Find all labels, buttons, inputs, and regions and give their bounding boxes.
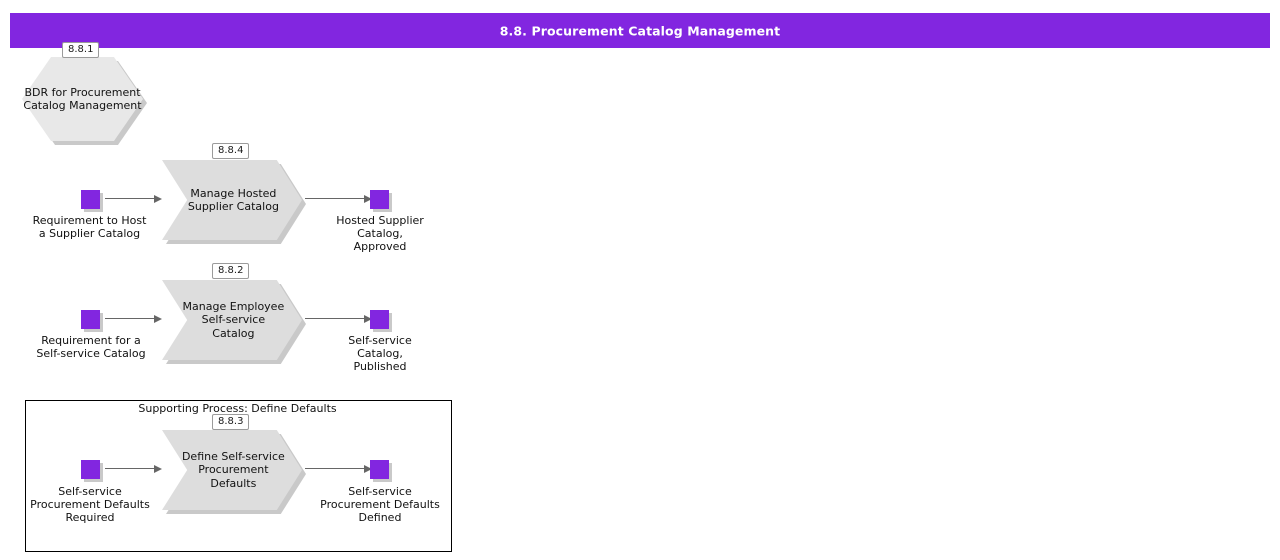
badge-8-8-2: 8.8.2	[212, 263, 249, 279]
activity-row1[interactable]: Manage Hosted Supplier Catalog	[162, 160, 302, 240]
end-event-row2[interactable]	[370, 310, 389, 329]
end-event-label-row3: Self-service Procurement Defaults Define…	[318, 486, 442, 524]
start-event-label-row2: Requirement for a Self-service Catalog	[31, 335, 151, 361]
connector-line	[105, 318, 155, 319]
activity-label-row2: Manage Employee Self-service Catalog	[182, 280, 286, 360]
page-title: 8.8. Procurement Catalog Management	[10, 23, 1270, 38]
connector-line	[105, 198, 155, 199]
arrowhead-icon	[154, 465, 162, 473]
event-square	[370, 310, 389, 329]
badge-8-8-3: 8.8.3	[212, 414, 249, 430]
arrowhead-icon	[154, 315, 162, 323]
end-event-row3[interactable]	[370, 460, 389, 479]
connector-line	[305, 198, 365, 199]
event-square	[81, 460, 100, 479]
start-event-label-row1: Requirement to Host a Supplier Catalog	[29, 215, 150, 241]
activity-label-row1: Manage Hosted Supplier Catalog	[182, 160, 286, 240]
page-header-bar: 8.8. Procurement Catalog Management	[10, 13, 1270, 48]
start-event-row2[interactable]	[81, 310, 100, 329]
connector-row2-start-to-activity	[105, 314, 162, 324]
connector-row2-activity-to-end	[305, 314, 372, 324]
badge-8-8-1: 8.8.1	[62, 42, 99, 58]
event-square	[81, 310, 100, 329]
activity-row2[interactable]: Manage Employee Self-service Catalog	[162, 280, 302, 360]
connector-row3-start-to-activity	[105, 464, 162, 474]
event-square	[81, 190, 100, 209]
connector-row1-activity-to-end	[305, 194, 372, 204]
end-event-row1[interactable]	[370, 190, 389, 209]
connector-row1-start-to-activity	[105, 194, 162, 204]
activity-label-row3: Define Self-service Procurement Defaults	[182, 430, 286, 510]
start-event-row1[interactable]	[81, 190, 100, 209]
arrowhead-icon	[154, 195, 162, 203]
activity-row3[interactable]: Define Self-service Procurement Defaults	[162, 430, 302, 510]
event-square	[370, 460, 389, 479]
bdr-label: BDR for Procurement Catalog Management	[22, 57, 143, 141]
start-event-label-row3: Self-service Procurement Defaults Requir…	[29, 486, 151, 524]
end-event-label-row1: Hosted Supplier Catalog, Approved	[334, 215, 426, 253]
connector-line	[105, 468, 155, 469]
connector-row3-activity-to-end	[305, 464, 372, 474]
badge-8-8-4: 8.8.4	[212, 143, 249, 159]
connector-line	[305, 468, 365, 469]
connector-line	[305, 318, 365, 319]
event-square	[370, 190, 389, 209]
start-event-row3[interactable]	[81, 460, 100, 479]
bdr-hexagon[interactable]: BDR for Procurement Catalog Management	[22, 57, 143, 141]
end-event-label-row2: Self-service Catalog, Published	[334, 335, 426, 373]
